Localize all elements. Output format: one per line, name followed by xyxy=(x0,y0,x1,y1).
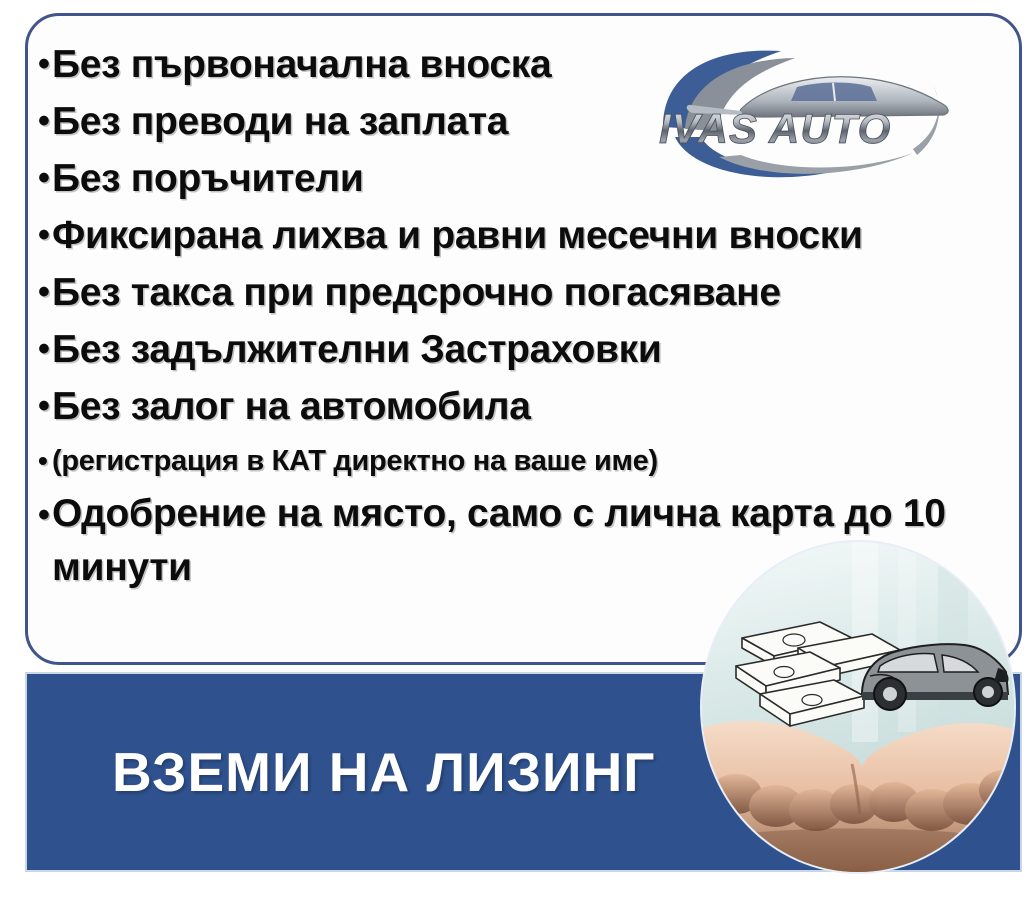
bullet-dot-icon: • xyxy=(38,36,52,93)
logo-wordmark: IVAS AUTO xyxy=(659,105,891,152)
bullet-dot-icon: • xyxy=(38,435,52,487)
bullet-dot-icon: • xyxy=(38,93,52,150)
bullet-dot-icon: • xyxy=(38,207,52,264)
ivas-auto-logo: IVAS AUTO xyxy=(645,45,975,180)
list-item-label: Без залог на автомобила xyxy=(52,378,998,435)
cta-headline: ВЗЕМИ НА ЛИЗИНГ xyxy=(112,740,656,804)
bullet-dot-icon: • xyxy=(38,487,52,544)
list-item: • (регистрация в КАТ директно на ваше им… xyxy=(38,435,998,487)
hands-money-car-photo xyxy=(700,540,1016,874)
bullet-dot-icon: • xyxy=(38,264,52,321)
list-item-label: Фиксирана лихва и равни месечни вноски xyxy=(52,207,998,264)
bullet-dot-icon: • xyxy=(38,378,52,435)
bullet-dot-icon: • xyxy=(38,150,52,207)
list-item: • Без задължителни Застраховки xyxy=(38,321,998,378)
list-item-label: (регистрация в КАТ директно на ваше име) xyxy=(52,435,998,487)
list-item-label: Без такса при предсрочно погасяване xyxy=(52,264,998,321)
list-item-label: Без задължителни Застраховки xyxy=(52,321,998,378)
list-item: • Без залог на автомобила xyxy=(38,378,998,435)
list-item: • Без такса при предсрочно погасяване xyxy=(38,264,998,321)
list-item: • Фиксирана лихва и равни месечни вноски xyxy=(38,207,998,264)
leasing-advert-poster: • Без първоначална вноска • Без преводи … xyxy=(0,0,1033,902)
bullet-dot-icon: • xyxy=(38,321,52,378)
